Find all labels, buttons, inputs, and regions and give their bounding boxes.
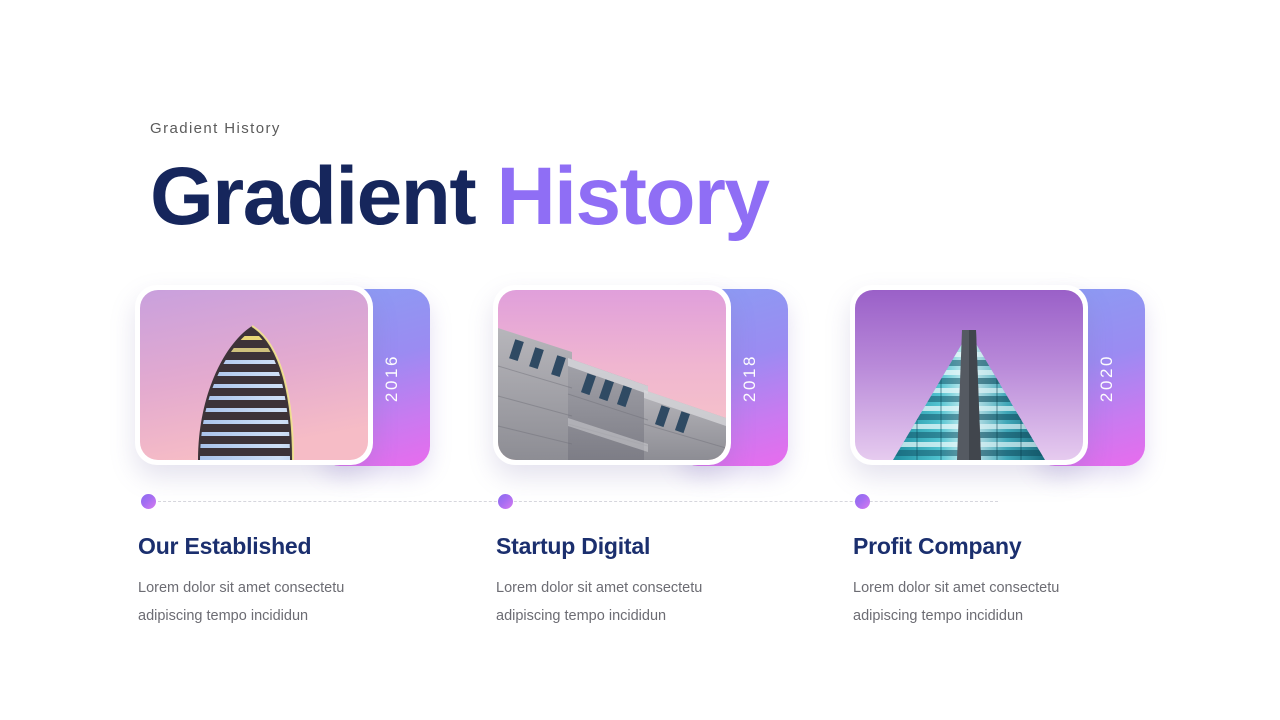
year-label: 2016 — [382, 353, 402, 401]
curved-banded-tower-photo — [140, 290, 368, 460]
timeline-cards: 2016 — [135, 285, 1145, 470]
year-label: 2020 — [1097, 353, 1117, 401]
timeline-dashed-line — [148, 501, 998, 502]
timeline-card[interactable]: 2020 — [850, 285, 1145, 470]
item-title: Our Established — [138, 532, 438, 561]
timeline-dot[interactable] — [498, 494, 513, 509]
timeline-item: Our Established Lorem dolor sit amet con… — [138, 532, 438, 631]
item-body: Lorem dolor sit amet consectetu adipisci… — [138, 575, 398, 631]
page-title-accent: History — [496, 151, 768, 242]
timeline-card[interactable]: 2016 — [135, 285, 430, 470]
glass-skyscraper-corner-photo — [855, 290, 1083, 460]
slide-canvas: Gradient History Gradient History 2016 — [0, 0, 1280, 720]
photo-frame — [135, 285, 373, 465]
timeline-card[interactable]: 2018 — [493, 285, 788, 470]
year-label: 2018 — [740, 353, 760, 401]
item-body: Lorem dolor sit amet consectetu adipisci… — [496, 575, 756, 631]
page-title-primary: Gradient — [150, 151, 475, 242]
photo-frame — [493, 285, 731, 465]
timeline-item: Profit Company Lorem dolor sit amet cons… — [853, 532, 1153, 631]
timeline-item: Startup Digital Lorem dolor sit amet con… — [496, 532, 796, 631]
header-block: Gradient History Gradient History — [150, 120, 768, 240]
timeline-dot[interactable] — [855, 494, 870, 509]
timeline-track — [135, 494, 1145, 510]
item-body: Lorem dolor sit amet consectetu adipisci… — [853, 575, 1113, 631]
eyebrow-label: Gradient History — [150, 120, 768, 138]
photo-frame — [850, 285, 1088, 465]
concrete-modernist-building-photo — [498, 290, 726, 460]
timeline-dot[interactable] — [141, 494, 156, 509]
item-title: Profit Company — [853, 532, 1153, 561]
page-title: Gradient History — [150, 154, 768, 240]
item-title: Startup Digital — [496, 532, 796, 561]
